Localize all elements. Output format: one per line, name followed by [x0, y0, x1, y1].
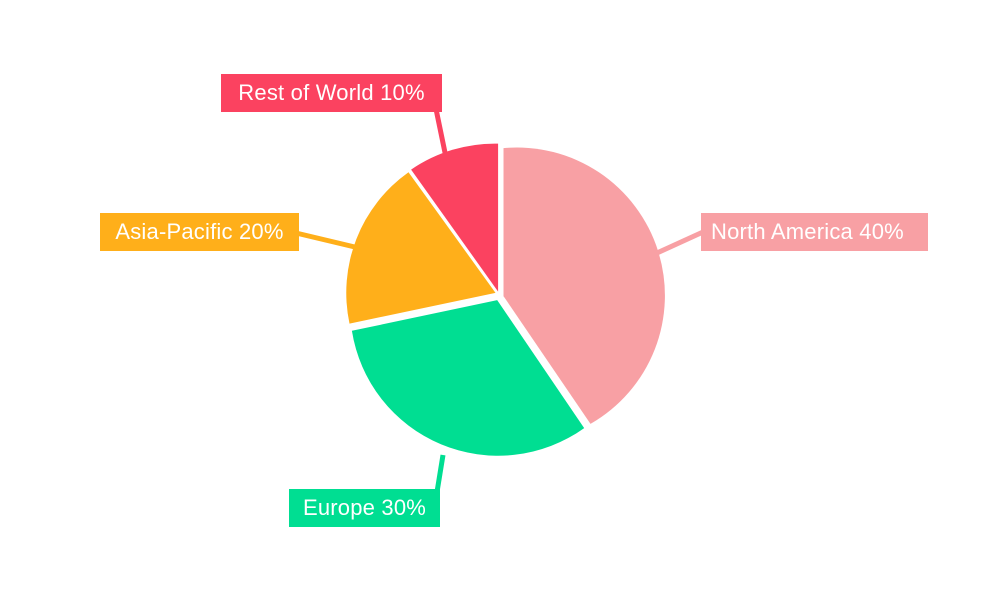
pie-label-north-america[interactable]: North America 40% — [701, 213, 928, 251]
pie-chart-figure: North America 40% Europe 30% Asia-Pacifi… — [0, 0, 1000, 600]
pie-label-europe[interactable]: Europe 30% — [289, 489, 440, 527]
pie-label-asia-pacific[interactable]: Asia-Pacific 20% — [100, 213, 299, 251]
chart-background — [0, 0, 1000, 600]
pie-chart-canvas — [0, 0, 1000, 600]
pie-label-rest-of-world[interactable]: Rest of World 10% — [221, 74, 442, 112]
